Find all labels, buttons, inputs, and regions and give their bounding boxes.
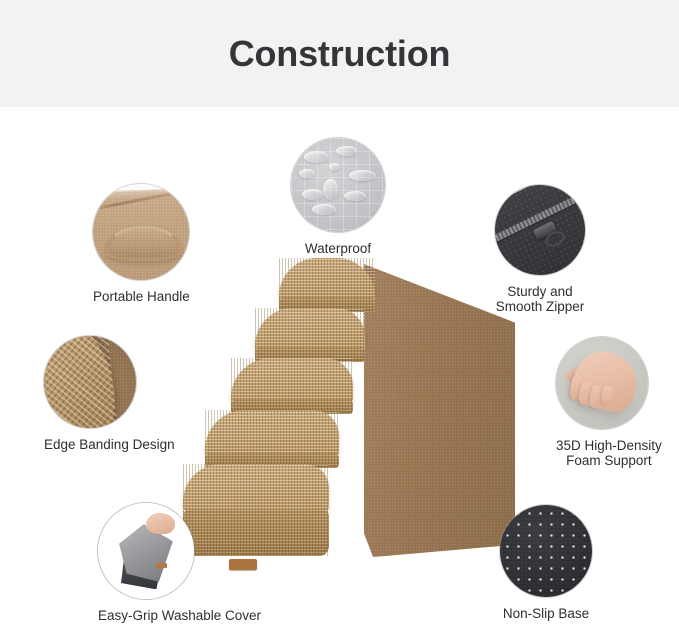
feature-label-portable-handle: Portable Handle (93, 289, 190, 304)
feature-label-non-slip-base: Non-Slip Base (500, 606, 592, 621)
feature-portable-handle: Portable Handle (93, 184, 190, 304)
step-tread-3 (231, 358, 353, 404)
hand-pressing-foam-photo-icon (556, 337, 648, 429)
feature-high-density-foam: 35D High-Density Foam Support (556, 337, 662, 468)
page-title: Construction (229, 33, 451, 75)
step-tread-2 (205, 410, 339, 458)
zipper-photo-icon (495, 185, 585, 275)
feature-label-sturdy-smooth-zipper: Sturdy and Smooth Zipper (495, 284, 585, 314)
feature-non-slip-base: Non-Slip Base (500, 505, 592, 621)
dotted-base-photo-icon (500, 505, 592, 597)
feature-label-high-density-foam: 35D High-Density Foam Support (556, 438, 662, 468)
edge-banding-photo-icon (44, 336, 136, 428)
infographic-page: Construction (0, 0, 679, 627)
step-tread-4 (255, 308, 365, 352)
water-droplets-photo-icon (291, 138, 385, 232)
feature-label-waterproof: Waterproof (291, 241, 385, 256)
step-tread-5 (279, 258, 375, 302)
hand-holding-cover-photo-icon (98, 503, 194, 599)
feature-label-edge-banding-design: Edge Banding Design (44, 437, 175, 452)
feature-edge-banding-design: Edge Banding Design (44, 336, 175, 452)
feature-label-easy-grip-washable-cover: Easy-Grip Washable Cover (98, 608, 261, 623)
feature-easy-grip-washable-cover: Easy-Grip Washable Cover (98, 503, 261, 623)
feature-sturdy-smooth-zipper: Sturdy and Smooth Zipper (495, 185, 585, 314)
fabric-handle-photo-icon (93, 184, 189, 280)
header-band: Construction (0, 0, 679, 107)
feature-waterproof: Waterproof (291, 138, 385, 256)
